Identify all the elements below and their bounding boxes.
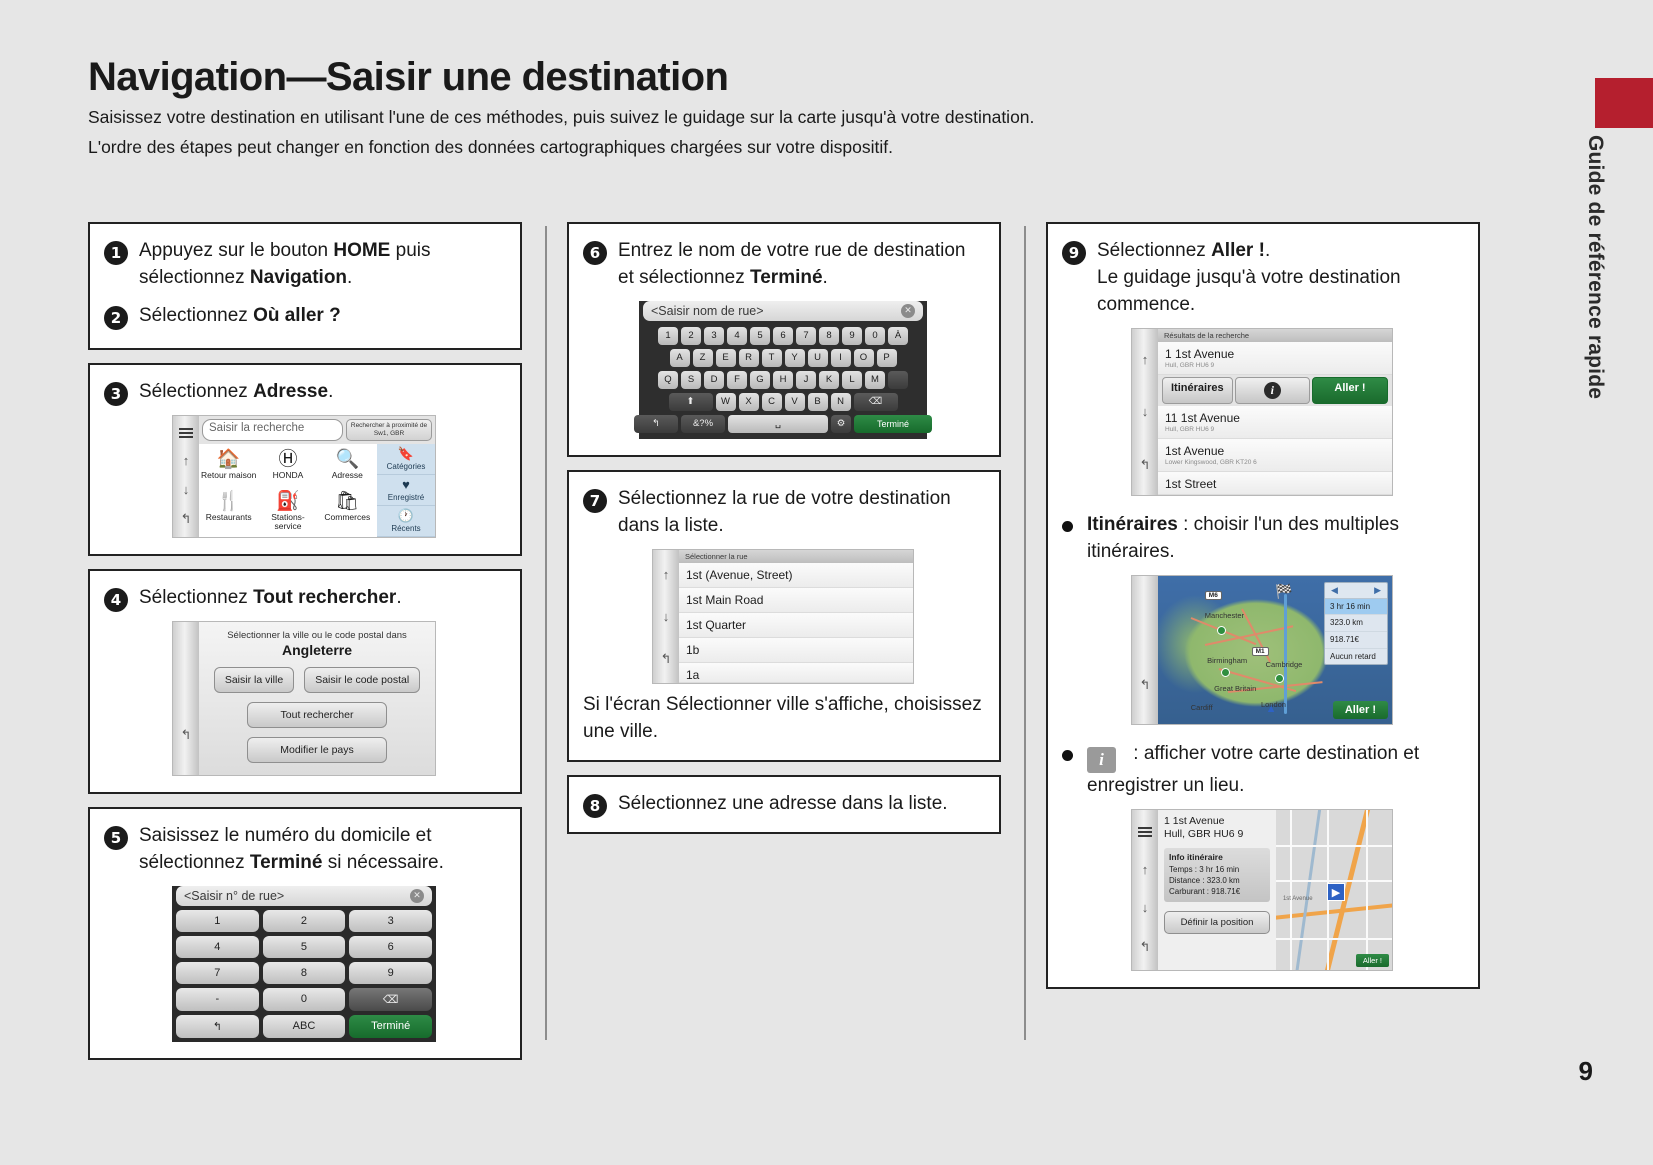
town-label: Cambridge bbox=[1266, 660, 1303, 669]
scroll-up-icon[interactable]: ↑ bbox=[183, 454, 190, 467]
set-position-button[interactable]: Définir la position bbox=[1164, 911, 1270, 934]
step-box-3: 3 Sélectionnez Adresse. ↑ ↓ ↰ Saisir la … bbox=[88, 363, 522, 556]
step-3-text: Sélectionnez Adresse. bbox=[139, 379, 333, 406]
tile-label: Commerces bbox=[320, 513, 375, 523]
restaurant-icon: 🍴 bbox=[201, 492, 256, 511]
key-r[interactable]: R bbox=[739, 349, 759, 367]
key-g[interactable]: G bbox=[750, 371, 770, 389]
scroll-down-icon[interactable]: ↓ bbox=[1142, 405, 1149, 418]
menu-icon[interactable] bbox=[1138, 827, 1152, 837]
search-input[interactable]: Saisir la recherche bbox=[202, 419, 343, 441]
info-icon: i bbox=[1087, 747, 1116, 773]
result-title: 1st Avenue bbox=[1165, 444, 1385, 458]
back-icon[interactable]: ↰ bbox=[1140, 678, 1151, 691]
house-number-input[interactable]: <Saisir n° de rue> ✕ bbox=[176, 886, 432, 906]
result-subtitle: Hull, GBR HU6 9 bbox=[1165, 426, 1385, 433]
tile-label: Adresse bbox=[320, 471, 375, 481]
side-tab-accent-block bbox=[1595, 78, 1653, 128]
step-1-text-c: . bbox=[347, 267, 352, 288]
key-a[interactable]: A bbox=[670, 349, 690, 367]
fuel-icon: ⛽ bbox=[260, 492, 315, 511]
step-1-text-a: Appuyez sur le bouton bbox=[139, 240, 333, 261]
keyboard-row-bottom: ↰ &?% ␣ ⚙ Terminé bbox=[639, 413, 927, 435]
step-9-line2: Le guidage jusqu'à votre destination com… bbox=[1097, 265, 1462, 319]
key-n[interactable]: N bbox=[831, 393, 851, 411]
key-b[interactable]: B bbox=[808, 393, 828, 411]
step-3-text-b: . bbox=[328, 381, 333, 402]
keyboard-row-azerty: A Z E R T Y U I O P bbox=[639, 347, 927, 369]
tile-label: Stations-service bbox=[260, 513, 315, 532]
key-accent[interactable]: À bbox=[888, 327, 908, 345]
clear-icon[interactable]: ✕ bbox=[901, 304, 915, 318]
step-8-text: Sélectionnez une adresse dans la liste. bbox=[618, 791, 948, 818]
list-item[interactable]: 1b bbox=[679, 638, 913, 663]
step-3-bold-adresse: Adresse bbox=[253, 381, 328, 402]
list-item[interactable]: 1st (Avenue, Street) bbox=[679, 563, 913, 588]
step-number: 1 bbox=[104, 241, 128, 265]
key-o[interactable]: O bbox=[854, 349, 874, 367]
step-number: 7 bbox=[583, 489, 607, 513]
key-num[interactable]: 1 bbox=[658, 327, 678, 345]
list-item[interactable]: 1st Avenue Lower Kingswood, GBR KT20 6 bbox=[1158, 439, 1392, 472]
step-box-6: 6 Entrez le nom de votre rue de destinat… bbox=[567, 222, 1001, 457]
step-9-text-b: . bbox=[1265, 240, 1270, 261]
town-label: Manchester bbox=[1205, 611, 1244, 620]
tile-restaurants[interactable]: 🍴 Restaurants bbox=[199, 486, 258, 537]
key-z[interactable]: Z bbox=[693, 349, 713, 367]
keyboard-row-numbers: 1 2 3 4 5 6 7 8 9 0 À bbox=[639, 325, 927, 347]
key-j[interactable]: J bbox=[796, 371, 816, 389]
step-6-text: Entrez le nom de votre rue de destinatio… bbox=[618, 238, 983, 292]
key-x[interactable]: X bbox=[739, 393, 759, 411]
step-box-1-2: 1 Appuyez sur le bouton HOME puis sélect… bbox=[88, 222, 522, 350]
page-header: Navigation—Saisir une destination Saisis… bbox=[88, 56, 1388, 163]
prev-route-icon[interactable]: ◀ bbox=[1331, 585, 1338, 596]
step-7: 7 Sélectionnez la rue de votre destinati… bbox=[583, 486, 983, 540]
screenshot-city-postcode: ↰ Sélectionner la ville ou le code posta… bbox=[172, 621, 436, 776]
step-6-bold-termine: Terminé bbox=[750, 267, 823, 288]
step-5-text: Saisissez le numéro du domicile et sélec… bbox=[139, 823, 504, 877]
tile-label: Restaurants bbox=[201, 513, 256, 523]
key-w[interactable]: W bbox=[716, 393, 736, 411]
screenshot-where-to: ↑ ↓ ↰ Saisir la recherche Rechercher à p… bbox=[172, 415, 436, 538]
step-6: 6 Entrez le nom de votre rue de destinat… bbox=[583, 238, 983, 292]
screenshot-destination-detail: ↑ ↓ ↰ 1 1st Avenue Hull, GBR HU6 9 Info … bbox=[1131, 809, 1393, 971]
clock-icon: 🕐 bbox=[398, 509, 414, 522]
next-route-icon[interactable]: ▶ bbox=[1374, 585, 1381, 596]
result-title: 1 1st Avenue bbox=[1165, 347, 1385, 361]
step-box-5: 5 Saisissez le numéro du domicile et sél… bbox=[88, 807, 522, 1060]
result-actions: Itinéraires i Aller ! bbox=[1158, 375, 1392, 406]
change-country-button[interactable]: Modifier le pays bbox=[247, 737, 387, 763]
step-4-text-b: . bbox=[396, 587, 401, 608]
key-num[interactable]: 2 bbox=[681, 327, 701, 345]
step-9-text: Sélectionnez Aller !. Le guidage jusqu'à… bbox=[1097, 238, 1462, 319]
city-prompt: Sélectionner la ville ou le code postal … bbox=[209, 630, 425, 641]
key-num[interactable]: 4 bbox=[727, 327, 747, 345]
keyboard-row-qsdf: Q S D F G H J K L M bbox=[639, 369, 927, 391]
key-v[interactable]: V bbox=[785, 393, 805, 411]
device-rail: ↰ bbox=[173, 622, 199, 775]
key-d[interactable]: D bbox=[704, 371, 724, 389]
route-distance: 323.0 km bbox=[1325, 614, 1387, 631]
go-button[interactable]: Aller ! bbox=[1333, 701, 1388, 719]
key-num[interactable]: 6 bbox=[773, 327, 793, 345]
secondary-road bbox=[1293, 810, 1323, 970]
route-polyline bbox=[1284, 594, 1287, 714]
backspace-icon[interactable]: ⌫ bbox=[854, 393, 898, 411]
town-marker bbox=[1217, 626, 1226, 635]
route-fuel: 918.71€ bbox=[1325, 631, 1387, 648]
list-item[interactable]: 1st Main Road bbox=[679, 588, 913, 613]
key-num[interactable]: 8 bbox=[819, 327, 839, 345]
tile-stations-service[interactable]: ⛽ Stations-service bbox=[258, 486, 317, 537]
step-box-8: 8 Sélectionnez une adresse dans la liste… bbox=[567, 775, 1001, 834]
street-label: 1st Avenue bbox=[1283, 896, 1313, 902]
honda-icon: Ⓗ bbox=[260, 450, 315, 469]
device-rail: ↑ ↓ ↰ bbox=[653, 550, 679, 683]
home-icon: 🏠 bbox=[201, 450, 256, 469]
key-s[interactable]: S bbox=[681, 371, 701, 389]
back-icon[interactable]: ↰ bbox=[176, 1015, 259, 1038]
street-line bbox=[1290, 810, 1292, 970]
town-marker bbox=[1275, 674, 1284, 683]
tile-label: HONDA bbox=[260, 471, 315, 481]
key-3[interactable]: 3 bbox=[349, 910, 432, 932]
settings-icon[interactable]: ⚙ bbox=[831, 415, 851, 433]
side-tab-label: Récents bbox=[391, 524, 420, 533]
route-info-time: Temps : 3 hr 16 min bbox=[1169, 864, 1265, 875]
step-5: 5 Saisissez le numéro du domicile et sél… bbox=[104, 823, 504, 877]
route-info-panel: ◀ ▶ 3 hr 16 min 323.0 km 918.71€ Aucun r… bbox=[1324, 582, 1388, 665]
back-icon[interactable]: ↰ bbox=[634, 415, 678, 433]
list-item[interactable]: 11 1st Avenue Hull, GBR HU6 9 bbox=[1158, 406, 1392, 439]
routes-button[interactable]: Itinéraires bbox=[1162, 377, 1233, 404]
page-title: Navigation—Saisir une destination bbox=[88, 56, 1388, 98]
step-9-bold-aller: Aller ! bbox=[1211, 240, 1265, 261]
key-num[interactable]: 7 bbox=[796, 327, 816, 345]
list-item[interactable]: 1a bbox=[679, 663, 913, 683]
scroll-up-icon[interactable] bbox=[184, 655, 188, 668]
key-8[interactable]: 8 bbox=[263, 962, 346, 984]
side-tab-label: Catégories bbox=[387, 462, 426, 471]
country-name: Angleterre bbox=[209, 642, 425, 658]
side-tab-recents[interactable]: 🕐 Récents bbox=[377, 506, 435, 537]
enter-city-button[interactable]: Saisir la ville bbox=[214, 667, 294, 693]
house-number-placeholder: <Saisir n° de rue> bbox=[184, 889, 284, 903]
key-num[interactable]: 9 bbox=[842, 327, 862, 345]
step-5-bold-termine: Terminé bbox=[250, 852, 323, 873]
key-0[interactable]: 0 bbox=[263, 988, 346, 1011]
address-search-icon: 🔍 bbox=[320, 450, 375, 469]
tile-honda[interactable]: Ⓗ HONDA bbox=[258, 444, 317, 486]
back-icon[interactable]: ↰ bbox=[661, 652, 672, 665]
destination-pin-icon: ▶ bbox=[1327, 883, 1345, 901]
key-extra[interactable] bbox=[888, 371, 908, 389]
side-tab-enregistre[interactable]: ♥ Enregistré bbox=[377, 475, 435, 506]
back-icon[interactable]: ↰ bbox=[1140, 940, 1151, 953]
street-line bbox=[1276, 938, 1392, 940]
scroll-up-icon[interactable]: ↑ bbox=[1142, 353, 1149, 366]
step-3-text-a: Sélectionnez bbox=[139, 381, 253, 402]
shopping-icon: 🛍 bbox=[320, 492, 375, 511]
step-number: 2 bbox=[104, 306, 128, 330]
intro-line-2: L'ordre des étapes peut changer en fonct… bbox=[88, 134, 1388, 161]
step-box-7: 7 Sélectionnez la rue de votre destinati… bbox=[567, 470, 1001, 762]
street-line bbox=[1276, 845, 1392, 847]
key-num[interactable]: 0 bbox=[865, 327, 885, 345]
result-subtitle: Lower Kingswood, GBR KT20 6 bbox=[1165, 459, 1385, 466]
key-l[interactable]: L bbox=[842, 371, 862, 389]
street-line bbox=[1366, 810, 1368, 970]
town-label: Cardiff bbox=[1191, 703, 1213, 712]
step-7-text: Sélectionnez la rue de votre destination… bbox=[618, 486, 983, 540]
key-q[interactable]: Q bbox=[658, 371, 678, 389]
town-label: Birmingham bbox=[1207, 656, 1247, 665]
step-8: 8 Sélectionnez une adresse dans la liste… bbox=[583, 791, 983, 818]
key-i[interactable]: I bbox=[831, 349, 851, 367]
back-icon[interactable]: ↰ bbox=[181, 512, 192, 525]
keypad-grid: 1 2 3 4 5 6 7 8 9 - 0 ⌫ ↰ ABC Te bbox=[172, 910, 436, 1038]
step-7-note: Si l'écran Sélectionner ville s'affiche,… bbox=[583, 692, 983, 746]
key-y[interactable]: Y bbox=[785, 349, 805, 367]
screenshot-search-results: ↑ ↓ ↰ Résultats de la recherche 1 1st Av… bbox=[1131, 328, 1393, 496]
route-time: 3 hr 16 min bbox=[1325, 599, 1387, 615]
destination-map[interactable]: 1st Avenue ▶ Aller ! bbox=[1276, 810, 1392, 970]
step-4-text: Sélectionnez Tout rechercher. bbox=[139, 585, 402, 612]
route-info-fuel: Carburant : 918.71€ bbox=[1169, 886, 1265, 897]
intro-line-1: Saisissez votre destination en utilisant… bbox=[88, 104, 1388, 131]
key-dash[interactable]: - bbox=[176, 988, 259, 1011]
route-info-distance: Distance : 323.0 km bbox=[1169, 875, 1265, 886]
step-1: 1 Appuyez sur le bouton HOME puis sélect… bbox=[104, 238, 504, 292]
screenshot-route-map: ↰ M6 M1 Manchester bbox=[1131, 575, 1393, 725]
key-k[interactable]: K bbox=[819, 371, 839, 389]
route-info-title: Info itinéraire bbox=[1169, 852, 1223, 862]
step-number: 3 bbox=[104, 382, 128, 406]
go-button[interactable]: Aller ! bbox=[1312, 377, 1388, 404]
key-5[interactable]: 5 bbox=[263, 936, 346, 958]
backspace-icon[interactable]: ⌫ bbox=[349, 988, 432, 1011]
tile-adresse[interactable]: 🔍 Adresse bbox=[318, 444, 377, 486]
scroll-down-icon[interactable]: ↓ bbox=[663, 610, 670, 623]
step-number: 4 bbox=[104, 588, 128, 612]
screenshot-house-number-keypad: <Saisir n° de rue> ✕ 1 2 3 4 5 6 7 8 9 - bbox=[172, 886, 436, 1042]
key-num[interactable]: 5 bbox=[750, 327, 770, 345]
tile-commerces[interactable]: 🛍 Commerces bbox=[318, 486, 377, 537]
street-name-input[interactable]: <Saisir nom de rue> ✕ bbox=[643, 301, 923, 321]
motorway-shield: M1 bbox=[1252, 647, 1269, 656]
step-2-text: Sélectionnez Où aller ? bbox=[139, 303, 341, 330]
menu-icon[interactable] bbox=[179, 428, 193, 438]
keyboard-row-shift: ⬆ W X C V B N ⌫ bbox=[639, 391, 927, 413]
list-item[interactable]: 1st Street bbox=[1158, 472, 1392, 495]
result-title: 1st Street bbox=[1165, 477, 1385, 491]
step-4-text-a: Sélectionnez bbox=[139, 587, 253, 608]
step-2-bold-ou-aller: Où aller ? bbox=[253, 305, 341, 326]
back-icon[interactable]: ↰ bbox=[1140, 458, 1151, 471]
bullet-itineraires-bold: Itinéraires bbox=[1087, 514, 1178, 535]
destination-flag-icon: 🏁 bbox=[1275, 583, 1292, 600]
step-9: 9 Sélectionnez Aller !. Le guidage jusqu… bbox=[1062, 238, 1462, 319]
abc-key[interactable]: ABC bbox=[263, 1015, 346, 1038]
scroll-down-icon[interactable]: ↓ bbox=[183, 483, 190, 496]
bullet-dot bbox=[1062, 521, 1073, 532]
key-num[interactable]: 3 bbox=[704, 327, 724, 345]
column-1: 1 Appuyez sur le bouton HOME puis sélect… bbox=[88, 222, 522, 1044]
scroll-down-icon[interactable]: ↓ bbox=[1142, 901, 1149, 914]
bullet-info-rest: : afficher votre carte destination et en… bbox=[1087, 743, 1419, 796]
heart-icon: ♥ bbox=[402, 478, 410, 491]
step-9-text-a: Sélectionnez bbox=[1097, 240, 1211, 261]
key-4[interactable]: 4 bbox=[176, 936, 259, 958]
step-box-4: 4 Sélectionnez Tout rechercher. ↰ Sélect… bbox=[88, 569, 522, 794]
step-5-text-b: si nécessaire. bbox=[322, 852, 443, 873]
bullet-info: i : afficher votre carte destination et … bbox=[1062, 741, 1462, 800]
route-traffic: Aucun retard bbox=[1325, 648, 1387, 665]
key-7[interactable]: 7 bbox=[176, 962, 259, 984]
clear-icon[interactable]: ✕ bbox=[410, 889, 424, 903]
step-box-9: 9 Sélectionnez Aller !. Le guidage jusqu… bbox=[1046, 222, 1480, 989]
bullet-itineraires: Itinéraires : choisir l'un des multiples… bbox=[1062, 512, 1462, 566]
key-6[interactable]: 6 bbox=[349, 936, 432, 958]
tile-retour-maison[interactable]: 🏠 Retour maison bbox=[199, 444, 258, 486]
scroll-up-icon[interactable]: ↑ bbox=[1142, 863, 1149, 876]
info-icon: i bbox=[1264, 382, 1281, 399]
key-t[interactable]: T bbox=[762, 349, 782, 367]
shift-icon[interactable]: ⬆ bbox=[669, 393, 713, 411]
step-4-bold-tout-rechercher: Tout rechercher bbox=[253, 587, 396, 608]
bullet-dot bbox=[1062, 750, 1073, 761]
street-list-header: Sélectionner la rue bbox=[679, 550, 913, 563]
device-rail: ↑ ↓ ↰ bbox=[173, 416, 199, 537]
step-3: 3 Sélectionnez Adresse. bbox=[104, 379, 504, 406]
side-tab-label: Enregistré bbox=[388, 493, 424, 502]
enter-postcode-button[interactable]: Saisir le code postal bbox=[304, 667, 420, 693]
screenshot-street-list: ↑ ↓ ↰ Sélectionner la rue 1st (Avenue, S… bbox=[652, 549, 914, 684]
key-c[interactable]: C bbox=[762, 393, 782, 411]
key-1[interactable]: 1 bbox=[176, 910, 259, 932]
key-m[interactable]: M bbox=[865, 371, 885, 389]
key-f[interactable]: F bbox=[727, 371, 747, 389]
column-divider-1 bbox=[522, 222, 567, 1044]
done-button[interactable]: Terminé bbox=[349, 1015, 432, 1038]
key-u[interactable]: U bbox=[808, 349, 828, 367]
page-number: 9 bbox=[1579, 1056, 1593, 1087]
space-key[interactable]: ␣ bbox=[728, 415, 828, 433]
symbols-key[interactable]: &?% bbox=[681, 415, 725, 433]
step-number: 6 bbox=[583, 241, 607, 265]
step-1-bold-home: HOME bbox=[333, 240, 390, 261]
results-header: Résultats de la recherche bbox=[1158, 329, 1392, 342]
step-2: 2 Sélectionnez Où aller ? bbox=[104, 303, 504, 330]
destination-address-line2: Hull, GBR HU6 9 bbox=[1164, 828, 1270, 841]
key-2[interactable]: 2 bbox=[263, 910, 346, 932]
device-rail: ↑ ↓ ↰ bbox=[1132, 329, 1158, 495]
column-divider-2 bbox=[1001, 222, 1046, 1044]
street-line bbox=[1276, 880, 1392, 882]
bullet-itineraires-text: Itinéraires : choisir l'un des multiples… bbox=[1087, 512, 1462, 566]
categories-icon: 🔖 bbox=[398, 447, 414, 460]
route-map-canvas[interactable]: M6 M1 Manchester Birmingham Cambridge Gr… bbox=[1158, 576, 1392, 724]
bullet-info-text: i : afficher votre carte destination et … bbox=[1087, 741, 1462, 800]
scroll-up-icon[interactable] bbox=[1143, 608, 1147, 621]
step-number: 9 bbox=[1062, 241, 1086, 265]
back-icon[interactable]: ↰ bbox=[181, 728, 192, 741]
region-label: Great Britain bbox=[1214, 684, 1256, 693]
search-near-button[interactable]: Rechercher à proximité de Sw1, GBR bbox=[346, 419, 432, 441]
column-3: 9 Sélectionnez Aller !. Le guidage jusqu… bbox=[1046, 222, 1480, 1044]
town-marker bbox=[1221, 668, 1230, 677]
result-title: 11 1st Avenue bbox=[1165, 411, 1385, 425]
key-p[interactable]: P bbox=[877, 349, 897, 367]
device-rail: ↰ bbox=[1132, 576, 1158, 724]
list-item[interactable]: 1st Quarter bbox=[679, 613, 913, 638]
list-item[interactable]: 1 1st Avenue Hull, GBR HU6 9 bbox=[1158, 342, 1392, 375]
key-e[interactable]: E bbox=[716, 349, 736, 367]
screenshot-street-keyboard: <Saisir nom de rue> ✕ 1 2 3 4 5 6 7 8 9 … bbox=[639, 301, 927, 439]
side-tab-categories[interactable]: 🔖 Catégories bbox=[377, 444, 435, 475]
tile-label: Retour maison bbox=[201, 471, 256, 481]
key-h[interactable]: H bbox=[773, 371, 793, 389]
step-number: 8 bbox=[583, 794, 607, 818]
info-button[interactable]: i bbox=[1235, 377, 1310, 404]
done-button[interactable]: Terminé bbox=[854, 415, 932, 433]
step-1-bold-navigation: Navigation bbox=[250, 267, 347, 288]
vehicle-marker-icon: ▲ bbox=[1266, 703, 1277, 715]
device-rail: ↑ ↓ ↰ bbox=[1132, 810, 1158, 970]
step-4: 4 Sélectionnez Tout rechercher. bbox=[104, 585, 504, 612]
step-1-text: Appuyez sur le bouton HOME puis sélectio… bbox=[139, 238, 504, 292]
key-9[interactable]: 9 bbox=[349, 962, 432, 984]
step-6-text-b: . bbox=[823, 267, 828, 288]
step-number: 5 bbox=[104, 826, 128, 850]
destination-address-line1: 1 1st Avenue bbox=[1164, 815, 1270, 828]
motorway-shield: M6 bbox=[1205, 591, 1222, 600]
step-2-text-a: Sélectionnez bbox=[139, 305, 253, 326]
scroll-up-icon[interactable]: ↑ bbox=[663, 568, 670, 581]
route-info-card: Info itinéraire Temps : 3 hr 16 min Dist… bbox=[1164, 848, 1270, 901]
street-name-placeholder: <Saisir nom de rue> bbox=[651, 304, 764, 318]
result-subtitle: Hull, GBR HU6 9 bbox=[1165, 362, 1385, 369]
steps-columns: 1 Appuyez sur le bouton HOME puis sélect… bbox=[88, 222, 1480, 1044]
column-2: 6 Entrez le nom de votre rue de destinat… bbox=[567, 222, 1001, 1044]
go-button[interactable]: Aller ! bbox=[1356, 954, 1389, 967]
side-tab-label: Guide de référence rapide bbox=[1583, 135, 1607, 399]
side-tab: Guide de référence rapide bbox=[1495, 0, 1653, 1165]
search-all-button[interactable]: Tout rechercher bbox=[247, 702, 387, 728]
main-road bbox=[1276, 901, 1392, 921]
